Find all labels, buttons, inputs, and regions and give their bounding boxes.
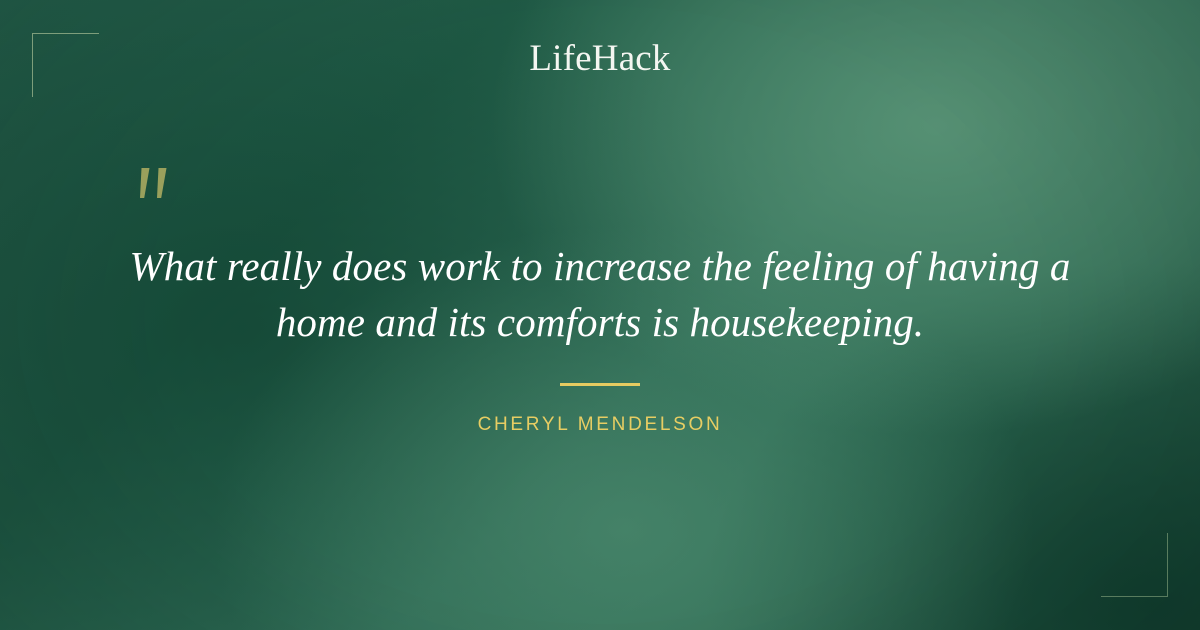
quote-mark-icon bbox=[131, 166, 181, 214]
author-name: CHERYL MENDELSON bbox=[0, 413, 1200, 437]
quote-card: LifeHack What really does work to increa… bbox=[0, 0, 1200, 630]
quote-text: What really does work to increase the fe… bbox=[100, 238, 1100, 350]
lifehack-logo: LifeHack bbox=[0, 40, 1200, 77]
author-divider bbox=[560, 383, 640, 386]
corner-bracket-bottom-right bbox=[1101, 533, 1168, 597]
